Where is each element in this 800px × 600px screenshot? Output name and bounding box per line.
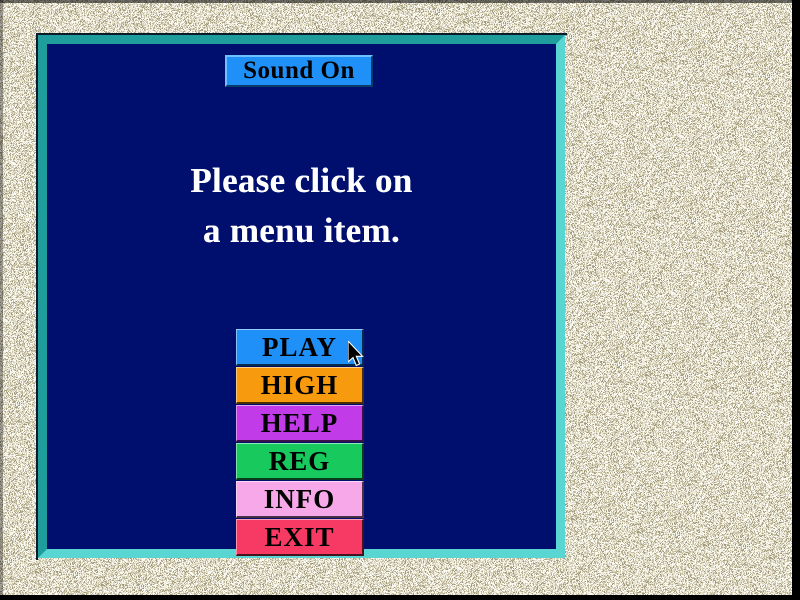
- menu-item-high[interactable]: HIGH: [236, 367, 364, 404]
- instruction-line-1: Please click on: [47, 156, 556, 206]
- menu-item-help[interactable]: HELP: [236, 405, 364, 442]
- game-panel: Sound On Please click on a menu item. PL…: [38, 35, 565, 558]
- instruction-line-2: a menu item.: [47, 206, 556, 256]
- menu-item-info[interactable]: INFO: [236, 481, 364, 518]
- menu-item-play[interactable]: PLAY: [236, 329, 364, 366]
- main-menu: PLAYHIGHHELPREGINFOEXIT: [236, 329, 364, 557]
- game-panel-inner: Sound On Please click on a menu item. PL…: [47, 44, 556, 549]
- window-frame-left: [0, 0, 3, 600]
- window-frame-bottom: [0, 595, 800, 600]
- menu-item-exit[interactable]: EXIT: [236, 519, 364, 556]
- sound-toggle-button[interactable]: Sound On: [225, 55, 373, 87]
- menu-item-reg[interactable]: REG: [236, 443, 364, 480]
- window-frame-right: [792, 0, 800, 600]
- instruction-message: Please click on a menu item.: [47, 156, 556, 256]
- window-frame-top: [0, 0, 800, 3]
